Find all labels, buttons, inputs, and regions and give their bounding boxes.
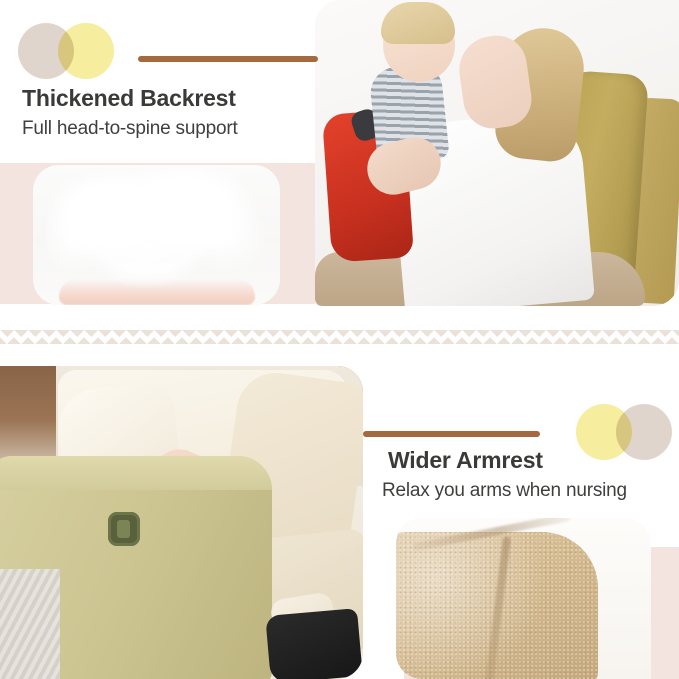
baby-hair <box>381 2 455 44</box>
armrest-scene-photo <box>0 366 363 679</box>
recliner-lever-icon <box>108 512 140 546</box>
armrest-top-surface <box>0 456 272 490</box>
decorative-circle-pair-top <box>18 23 114 79</box>
feature-text-block-top: Thickened Backrest Full head-to-spine su… <box>22 84 322 141</box>
zigzag-divider <box>0 330 679 344</box>
yellow-circle-icon <box>58 23 114 79</box>
armrest-detail-photo <box>396 518 651 679</box>
floor-rug <box>0 569 60 679</box>
feature-title-top: Thickened Backrest <box>22 84 322 113</box>
feature-title-bottom: Wider Armrest <box>388 446 672 475</box>
product-feature-panel: Thickened Backrest Full head-to-spine su… <box>0 0 679 679</box>
photo-highlight-overlay <box>33 165 280 305</box>
feature-text-block-bottom: Wider Armrest Relax you arms when nursin… <box>382 446 672 503</box>
mother-baby-recliner-photo <box>315 0 679 306</box>
feature-subtitle-top: Full head-to-spine support <box>22 117 322 141</box>
feature-subtitle-bottom: Relax you arms when nursing <box>382 479 672 503</box>
accent-bar-top <box>138 56 318 62</box>
black-shoe <box>265 608 363 679</box>
fiber-filling-photo <box>33 165 280 305</box>
accent-bar-bottom <box>363 431 540 437</box>
